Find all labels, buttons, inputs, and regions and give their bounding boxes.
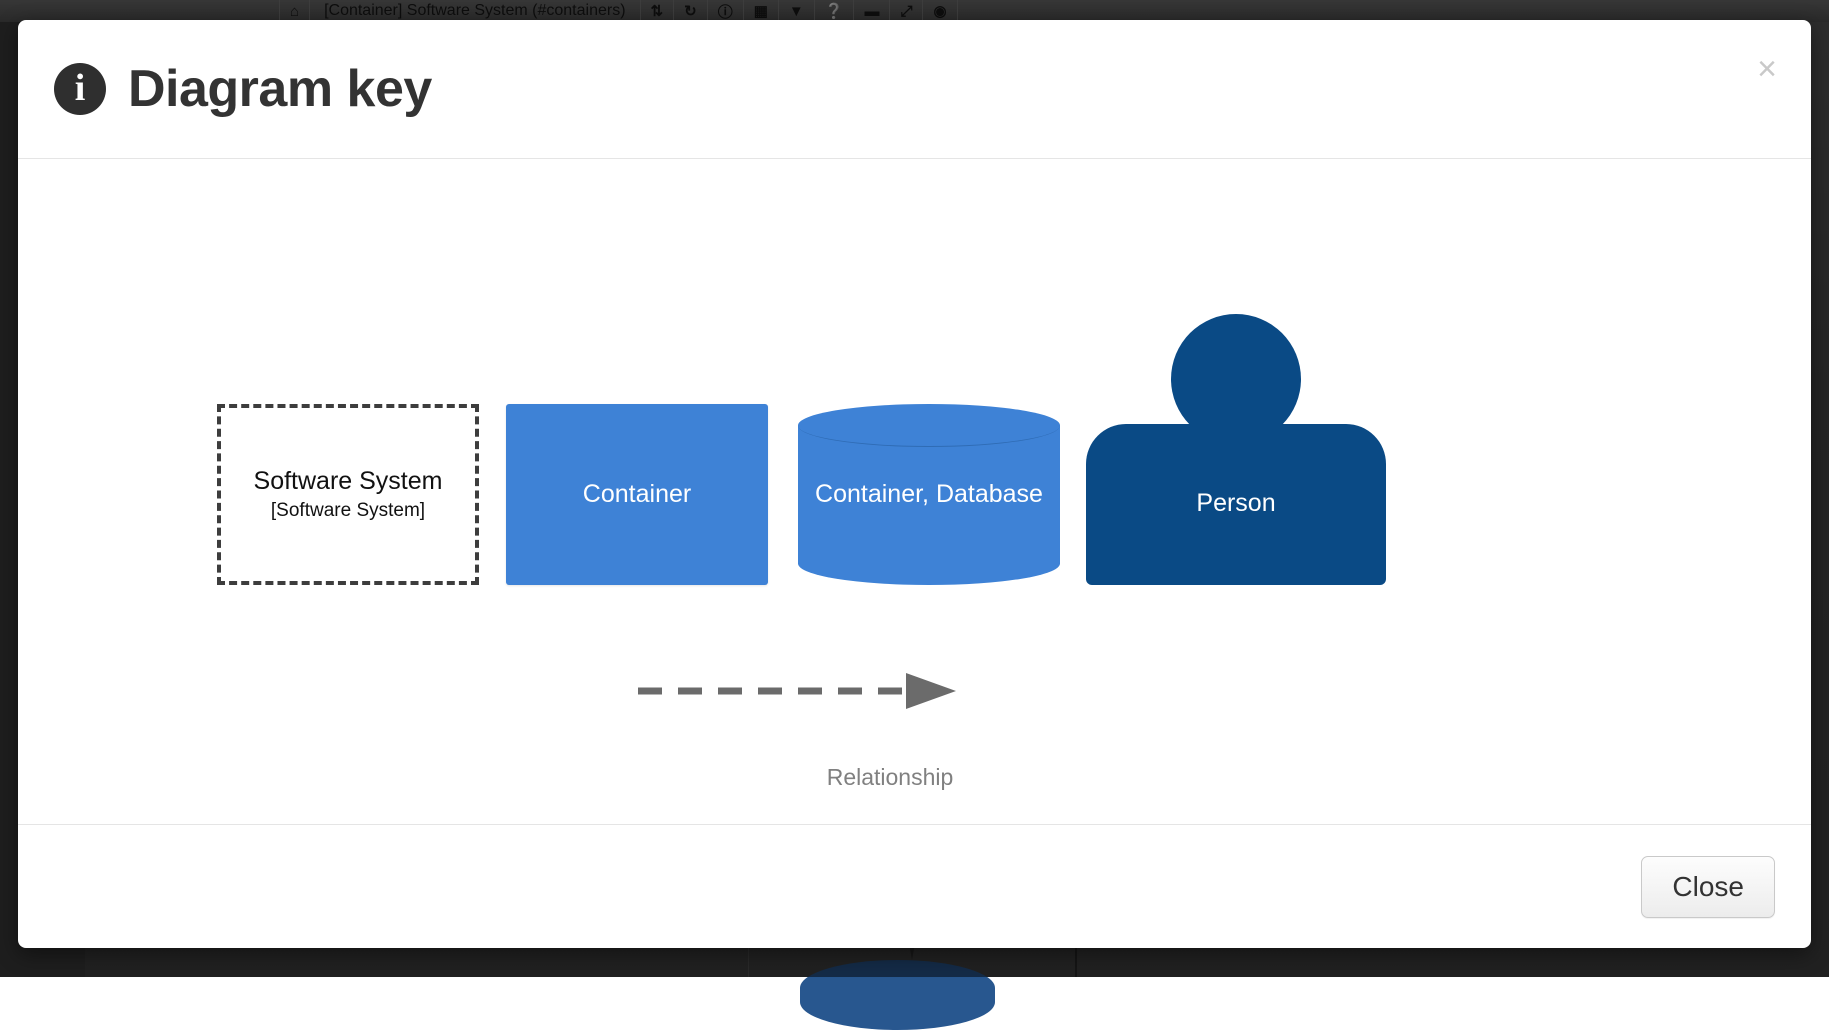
- key-shape-person: Person: [1086, 314, 1386, 585]
- key-shape-label: Software System: [254, 467, 443, 496]
- modal-header: i Diagram key ×: [18, 20, 1811, 159]
- key-shapes-row: Software System [Software System] Contai…: [18, 159, 1811, 619]
- modal-body: Software System [Software System] Contai…: [18, 159, 1811, 824]
- key-shape-label: Container, Database: [798, 404, 1060, 585]
- diagram-key-modal: i Diagram key × Software System [Softwar…: [18, 20, 1811, 948]
- key-shape-software-system: Software System [Software System]: [217, 404, 479, 585]
- key-shape-container-database: Container, Database: [798, 404, 1060, 585]
- key-shape-container: Container: [506, 404, 768, 585]
- key-shape-label: Person: [1086, 489, 1386, 518]
- page-title: Diagram key: [128, 59, 432, 119]
- relationship-label: Relationship: [827, 764, 954, 791]
- relationship-arrow-icon: [638, 671, 958, 711]
- key-shape-sublabel: [Software System]: [271, 500, 425, 522]
- modal-footer: Close: [18, 824, 1811, 948]
- relationship-label-wrapper: Relationship: [18, 764, 1811, 791]
- info-circle-icon: i: [54, 63, 106, 115]
- close-icon[interactable]: ×: [1757, 52, 1777, 86]
- modal-title-group: i Diagram key: [54, 59, 432, 119]
- close-button[interactable]: Close: [1641, 856, 1775, 918]
- key-shape-label: Container: [583, 480, 691, 509]
